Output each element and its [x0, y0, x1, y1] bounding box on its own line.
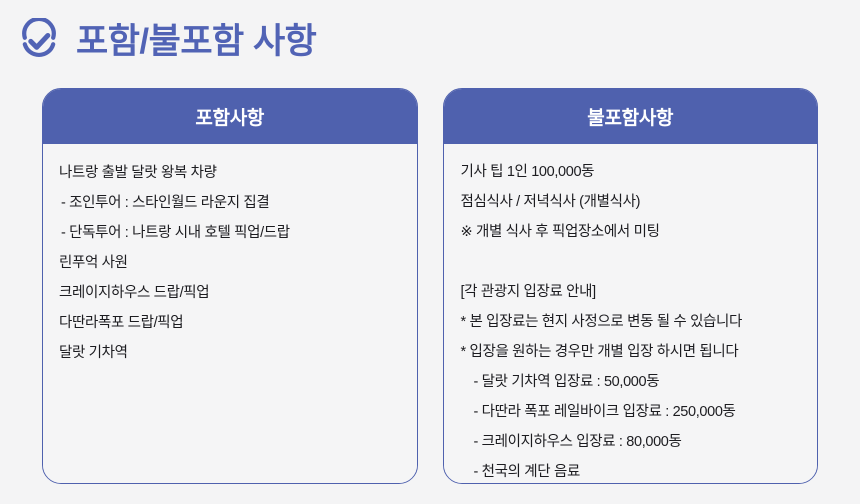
list-item: 기사 팁 1인 100,000동	[444, 157, 818, 187]
page-header: 포함/불포함 사항	[16, 9, 316, 73]
card-excluded-body: 기사 팁 1인 100,000동 점심식사 / 저녁식사 (개별식사) ※ 개별…	[444, 144, 818, 484]
list-item: ※ 개별 식사 후 픽업장소에서 미팅	[444, 217, 818, 247]
list-item: * 본 입장료는 현지 사정으로 변동 될 수 있습니다	[444, 307, 818, 337]
list-item: 나트랑 출발 달랏 왕복 차량	[43, 158, 417, 188]
list-item: 다딴라폭포 드랍/픽업	[43, 308, 417, 338]
card-excluded: 불포함사항 기사 팁 1인 100,000동 점심식사 / 저녁식사 (개별식사…	[443, 88, 819, 484]
list-spacer	[444, 247, 818, 277]
list-item: - 크레이지하우스 입장료 : 80,000동	[444, 427, 818, 457]
card-included-header: 포함사항	[43, 89, 417, 144]
page-title: 포함/불포함 사항	[76, 24, 316, 59]
list-item: - 조인투어 : 스타인월드 라운지 집결	[43, 188, 417, 218]
check-circle-icon	[16, 18, 62, 64]
cards-container: 포함사항 나트랑 출발 달랏 왕복 차량 - 조인투어 : 스타인월드 라운지 …	[42, 88, 818, 484]
list-item: 크레이지하우스 드랍/픽업	[43, 278, 417, 308]
list-item: - 천국의 계단 음료	[444, 457, 818, 484]
list-item: - 단독투어 : 나트랑 시내 호텔 픽업/드랍	[43, 218, 417, 248]
list-item: [각 관광지 입장료 안내]	[444, 277, 818, 307]
card-included-body: 나트랑 출발 달랏 왕복 차량 - 조인투어 : 스타인월드 라운지 집결 - …	[43, 144, 417, 483]
list-item: * 입장을 원하는 경우만 개별 입장 하시면 됩니다	[444, 337, 818, 367]
card-excluded-header: 불포함사항	[444, 89, 818, 144]
inclusions-exclusions-page: 포함/불포함 사항 포함사항 나트랑 출발 달랏 왕복 차량 - 조인투어 : …	[0, 0, 860, 504]
card-included: 포함사항 나트랑 출발 달랏 왕복 차량 - 조인투어 : 스타인월드 라운지 …	[42, 88, 418, 484]
list-item: 린푸억 사원	[43, 248, 417, 278]
list-item: 달랏 기차역	[43, 338, 417, 368]
list-item: 점심식사 / 저녁식사 (개별식사)	[444, 187, 818, 217]
list-item: - 다딴라 폭포 레일바이크 입장료 : 250,000동	[444, 397, 818, 427]
list-item: - 달랏 기차역 입장료 : 50,000동	[444, 367, 818, 397]
